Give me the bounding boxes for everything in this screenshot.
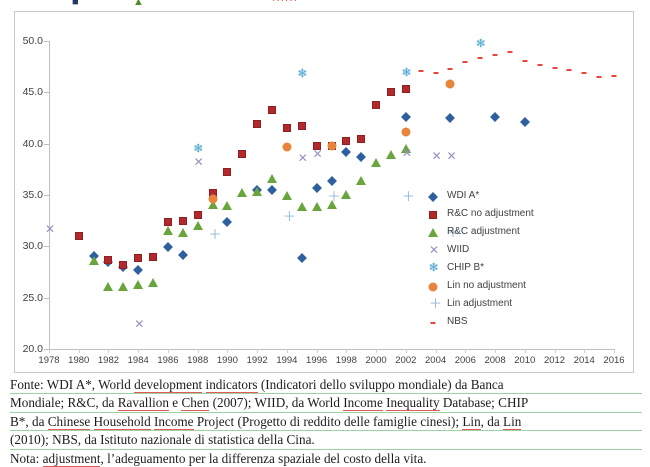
data-point: ✕	[402, 149, 412, 158]
x-tick	[465, 349, 466, 353]
data-point	[268, 106, 276, 114]
data-point	[356, 152, 366, 162]
data-point	[433, 72, 438, 74]
data-point	[357, 135, 365, 143]
data-point	[312, 202, 322, 211]
data-point	[75, 232, 83, 240]
data-point	[103, 282, 113, 291]
plot-area: 20.025.030.035.040.045.050.0 19781980198…	[15, 12, 635, 374]
cropped-square-icon: ■	[72, 0, 79, 7]
legend-label: WIID	[447, 244, 469, 256]
data-point: ✕	[313, 150, 323, 159]
x-tick	[346, 349, 347, 353]
data-point	[178, 228, 188, 237]
y-tick-label: 25.0	[7, 293, 43, 303]
data-point	[520, 117, 530, 127]
legend-item[interactable]: ✕WIID	[433, 242, 593, 260]
data-point	[312, 183, 322, 193]
data-point	[194, 211, 202, 219]
data-point	[418, 70, 423, 72]
legend-item[interactable]: Lin no adjustment	[433, 278, 593, 296]
data-point	[522, 60, 527, 62]
y-tick	[44, 195, 49, 196]
x-tick	[227, 349, 228, 353]
data-point	[537, 64, 542, 66]
x-tick-label: 2016	[594, 355, 634, 366]
data-point: ＋	[328, 192, 341, 201]
legend-symbol-diamond-icon	[428, 192, 438, 202]
x-tick	[257, 349, 258, 353]
data-point	[372, 101, 380, 109]
data-point	[401, 112, 411, 122]
data-point: ＋	[283, 212, 296, 221]
data-point	[89, 256, 99, 265]
data-point	[297, 202, 307, 211]
data-point	[597, 76, 602, 78]
data-point	[179, 217, 187, 225]
y-tick-label: 50.0	[7, 36, 43, 46]
data-point	[297, 253, 307, 263]
data-point: ＋	[402, 192, 415, 201]
data-point	[401, 128, 410, 137]
x-tick	[436, 349, 437, 353]
data-point	[386, 150, 396, 159]
data-point	[356, 176, 366, 185]
x-tick	[287, 349, 288, 353]
data-point	[567, 69, 572, 71]
y-tick-label: 40.0	[7, 139, 43, 149]
y-tick	[44, 144, 49, 145]
data-point	[193, 221, 203, 230]
data-point	[267, 174, 277, 183]
data-point: ✕	[134, 320, 144, 329]
legend-symbol-plus-icon: ＋	[429, 299, 442, 308]
y-tick	[44, 92, 49, 93]
data-point	[552, 67, 557, 69]
legend-item[interactable]: R&C no adjustment	[433, 206, 593, 224]
legend-label: Lin no adjustment	[447, 280, 526, 292]
data-point	[133, 265, 143, 275]
legend-item[interactable]: WDI A*	[433, 188, 593, 206]
legend-symbol-square-icon	[429, 211, 437, 219]
data-point: ✻	[298, 70, 307, 79]
data-point	[133, 280, 143, 289]
data-point	[283, 124, 291, 132]
data-point	[104, 256, 112, 264]
data-point: ✕	[298, 154, 308, 163]
y-axis-line	[49, 41, 50, 349]
data-point	[298, 122, 306, 130]
legend-label: Lin adjustment	[447, 298, 512, 310]
cropped-triangle-icon: ▲	[133, 0, 144, 7]
data-point	[149, 253, 157, 261]
legend-label: R&C no adjustment	[447, 208, 534, 220]
caption-line-4: (2010); NBS, da Istituto nazionale di st…	[10, 431, 642, 449]
y-tick	[44, 246, 49, 247]
y-tick-label: 30.0	[7, 241, 43, 251]
data-point	[178, 250, 188, 260]
data-point	[445, 113, 455, 123]
data-point	[164, 218, 172, 226]
x-tick	[495, 349, 496, 353]
data-point	[267, 185, 277, 195]
data-point	[327, 176, 337, 186]
figure-caption: Fonte: WDI A*, World development indicat…	[10, 376, 642, 467]
data-point	[237, 188, 247, 197]
data-point	[478, 57, 483, 59]
data-point	[490, 112, 500, 122]
cropped-dotted-line-icon: ······	[272, 0, 298, 6]
data-point	[163, 226, 173, 235]
x-tick	[614, 349, 615, 353]
y-tick	[44, 298, 49, 299]
data-point: ✻	[402, 69, 411, 78]
data-point	[148, 278, 158, 287]
data-point	[118, 282, 128, 291]
x-tick	[138, 349, 139, 353]
x-tick	[525, 349, 526, 353]
legend-item[interactable]: R&C adjustment	[433, 224, 593, 242]
legend-symbol-dash-icon	[431, 322, 436, 324]
y-tick-label: 35.0	[7, 190, 43, 200]
data-point	[463, 61, 468, 63]
y-tick-label: 20.0	[7, 344, 43, 354]
y-tick-label: 45.0	[7, 87, 43, 97]
data-point	[341, 147, 351, 157]
x-tick	[49, 349, 50, 353]
x-tick	[168, 349, 169, 353]
data-point	[253, 120, 261, 128]
legend-symbol-triangle-icon	[428, 228, 438, 237]
caption-line-5: Nota: adjustment, l’adeguamento per la d…	[10, 450, 642, 467]
data-point	[222, 217, 232, 227]
data-point	[342, 137, 350, 145]
x-tick	[79, 349, 80, 353]
data-point	[223, 168, 231, 176]
data-point	[222, 201, 232, 210]
caption-line-1: Fonte: WDI A*, World development indicat…	[10, 376, 642, 394]
x-tick	[584, 349, 585, 353]
data-point	[163, 242, 173, 252]
x-tick	[198, 349, 199, 353]
data-point	[446, 80, 455, 89]
legend-item[interactable]: ＋Lin adjustment	[433, 296, 593, 314]
chart-container: 20.025.030.035.040.045.050.0 19781980198…	[14, 11, 634, 373]
data-point	[448, 68, 453, 70]
caption-line-3: B*, da Chinese Household Income Project …	[10, 413, 642, 431]
data-point	[371, 158, 381, 167]
x-tick	[317, 349, 318, 353]
data-point	[238, 150, 246, 158]
legend-item[interactable]: ✻CHIP B*	[433, 260, 593, 278]
data-point	[582, 72, 587, 74]
x-tick	[555, 349, 556, 353]
caption-line-2: Mondiale; R&C, da Ravallion e Chen (2007…	[10, 394, 642, 412]
y-tick	[44, 41, 49, 42]
x-axis-line	[49, 349, 614, 350]
data-point	[493, 54, 498, 56]
data-point: ✻	[476, 40, 485, 49]
legend-symbol-x-cross-icon: ✕	[429, 246, 439, 255]
data-point: ✕	[194, 158, 204, 167]
data-point: ✕	[446, 152, 456, 161]
data-point	[252, 187, 262, 196]
data-point: ✕	[45, 225, 55, 234]
x-tick	[108, 349, 109, 353]
legend-label: R&C adjustment	[447, 226, 520, 238]
data-point	[612, 75, 617, 77]
legend-label: NBS	[447, 316, 468, 328]
data-point	[134, 254, 142, 262]
data-point	[387, 88, 395, 96]
data-point	[282, 191, 292, 200]
legend-item[interactable]: NBS	[433, 314, 593, 332]
data-point	[402, 85, 410, 93]
chart-legend: WDI A*R&C no adjustmentR&C adjustment✕WI…	[433, 188, 593, 332]
data-point: ✕	[432, 152, 442, 161]
x-tick	[406, 349, 407, 353]
data-point	[208, 195, 217, 204]
data-point	[119, 261, 127, 269]
data-point: ＋	[209, 230, 222, 239]
data-point: ✻	[194, 145, 203, 154]
data-point	[507, 51, 512, 53]
data-point	[341, 190, 351, 199]
legend-symbol-circle-icon	[429, 283, 438, 292]
data-point	[282, 142, 291, 151]
x-tick	[376, 349, 377, 353]
legend-label: CHIP B*	[447, 262, 484, 274]
data-point	[327, 141, 336, 150]
legend-symbol-asterisk-icon: ✻	[429, 264, 438, 273]
legend-label: WDI A*	[447, 190, 479, 202]
